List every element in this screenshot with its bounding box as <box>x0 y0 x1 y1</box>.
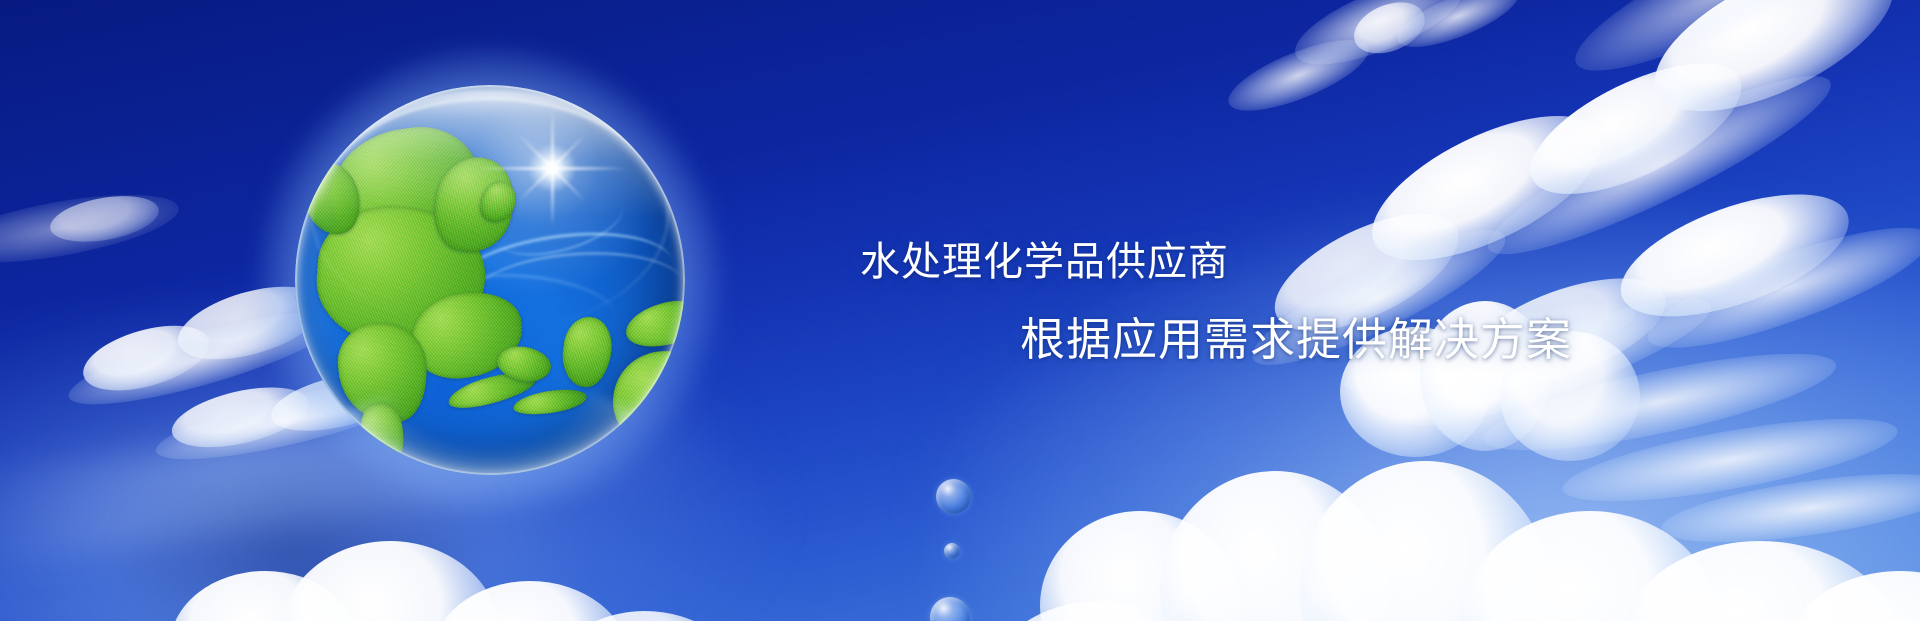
cloud-top-middle <box>1196 0 1564 179</box>
headline-line-2: 根据应用需求提供解决方案 <box>1020 317 1572 362</box>
landmass-philippines <box>558 314 615 390</box>
water-droplet-large <box>936 479 971 514</box>
cloud-mid-right-band <box>1319 101 1920 529</box>
cloud-far-left-wisp <box>0 158 206 292</box>
globe-sphere <box>295 85 685 475</box>
hero-banner: 水处理化学品供应商 根据应用需求提供解决方案 <box>0 0 1920 621</box>
sky-haze-right <box>930 201 1920 621</box>
cloud-upper-right-band <box>1174 0 1920 466</box>
water-droplet-bottom <box>930 597 970 621</box>
water-droplet-small <box>944 543 960 559</box>
cloud-bottom-right-bank <box>960 311 1920 621</box>
glass-earth-globe <box>295 85 685 475</box>
headline-line-1: 水处理化学品供应商 <box>860 242 1229 282</box>
